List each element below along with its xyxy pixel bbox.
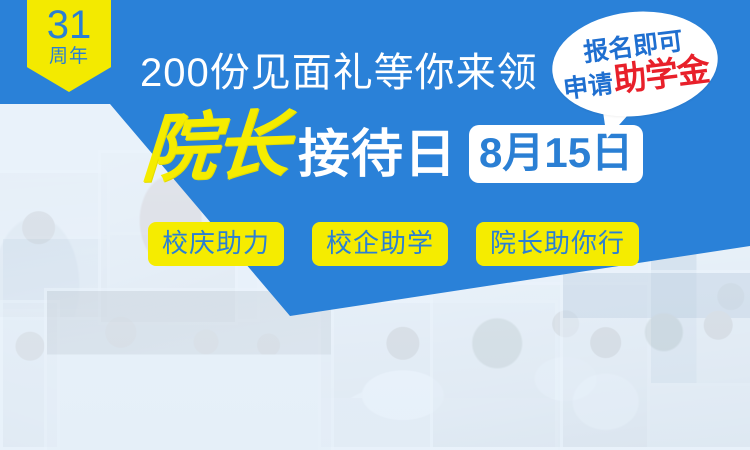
title-brush-text: 院长 — [140, 108, 290, 187]
title-row: 院长 接待日 8月15日 — [140, 113, 643, 187]
anniversary-number: 31 — [47, 4, 92, 46]
promo-banner: 31 周年 200份见面礼等你来领 院长 接待日 8月15日 报名即可 申请 助… — [0, 0, 750, 450]
bubble-apply-text: 申请 — [562, 68, 615, 104]
headline-text: 200份见面礼等你来领 — [140, 51, 538, 95]
title-main-text: 接待日 — [298, 127, 457, 183]
tag-item-2[interactable]: 校企助学 — [312, 222, 448, 266]
tag-list: 校庆助力 校企助学 院长助你行 — [148, 222, 639, 266]
collage-photo — [560, 270, 750, 450]
anniversary-unit: 周年 — [49, 46, 89, 68]
tag-item-1[interactable]: 校庆助力 — [148, 222, 284, 266]
tag-item-3[interactable]: 院长助你行 — [476, 222, 639, 266]
